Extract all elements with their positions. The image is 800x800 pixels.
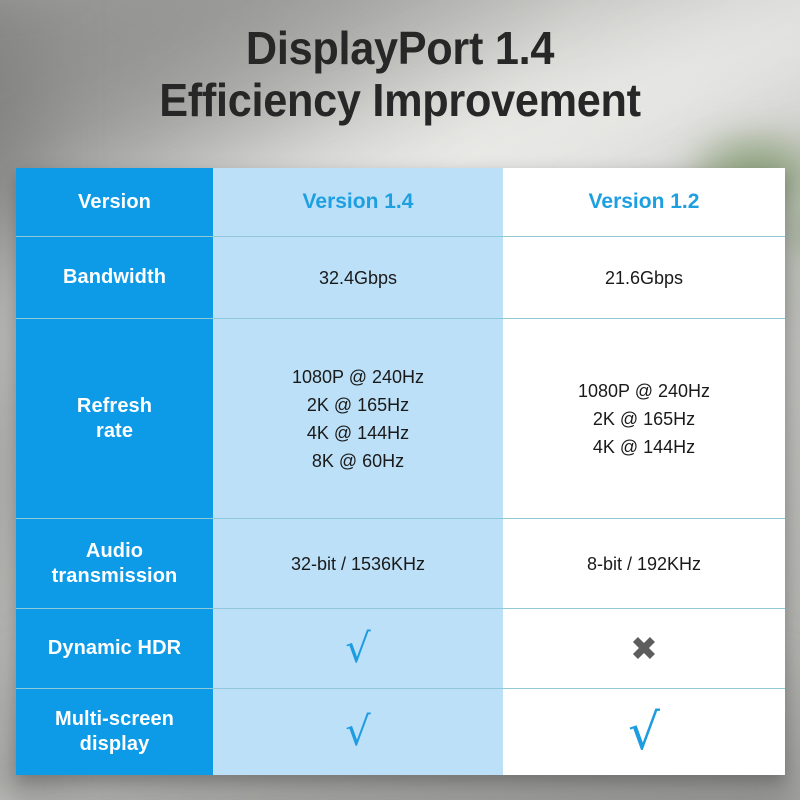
check-mark-icon: √ — [345, 629, 371, 669]
row-label-audio-transmission: Audio transmission — [16, 519, 213, 608]
row-label-dynamic-hdr: Dynamic HDR — [16, 609, 213, 688]
table-row-dynamic-hdr: Dynamic HDR √ ✖ — [16, 608, 785, 688]
table-header-version-12: Version 1.2 — [503, 168, 785, 236]
table-row-audio-transmission: Audio transmission 32-bit / 1536KHz 8-bi… — [16, 518, 785, 608]
page-title-line-1: DisplayPort 1.4 — [24, 22, 776, 74]
cell-multi-screen-display-v14: √ — [213, 689, 503, 775]
cell-audio-transmission-v12: 8-bit / 192KHz — [503, 519, 785, 608]
table-header-version-label: Version — [16, 168, 213, 236]
table-row-refresh-rate: Refresh rate 1080P @ 240Hz 2K @ 165Hz 4K… — [16, 318, 785, 518]
page-title: DisplayPort 1.4 Efficiency Improvement — [24, 22, 776, 126]
check-mark-icon: √ — [628, 707, 660, 757]
table-row-header: Version Version 1.4 Version 1.2 — [16, 168, 785, 236]
page-title-line-2: Efficiency Improvement — [24, 74, 776, 126]
row-label-refresh-rate: Refresh rate — [16, 319, 213, 518]
cell-dynamic-hdr-v12: ✖ — [503, 609, 785, 688]
comparison-table: Version Version 1.4 Version 1.2 Bandwidt… — [16, 168, 785, 775]
cell-audio-transmission-v14: 32-bit / 1536KHz — [213, 519, 503, 608]
cell-refresh-rate-v14: 1080P @ 240Hz 2K @ 165Hz 4K @ 144Hz 8K @… — [213, 319, 503, 518]
check-mark-icon: √ — [345, 712, 371, 752]
table-row-bandwidth: Bandwidth 32.4Gbps 21.6Gbps — [16, 236, 785, 318]
table-row-multi-screen-display: Multi-screen display √ √ — [16, 688, 785, 775]
cell-bandwidth-v12: 21.6Gbps — [503, 237, 785, 318]
row-label-bandwidth: Bandwidth — [16, 237, 213, 318]
cell-multi-screen-display-v12: √ — [503, 689, 785, 775]
table-header-version-14: Version 1.4 — [213, 168, 503, 236]
cell-dynamic-hdr-v14: √ — [213, 609, 503, 688]
cell-bandwidth-v14: 32.4Gbps — [213, 237, 503, 318]
cross-mark-icon: ✖ — [630, 632, 658, 665]
row-label-multi-screen-display: Multi-screen display — [16, 689, 213, 775]
cell-refresh-rate-v12: 1080P @ 240Hz 2K @ 165Hz 4K @ 144Hz — [503, 319, 785, 518]
